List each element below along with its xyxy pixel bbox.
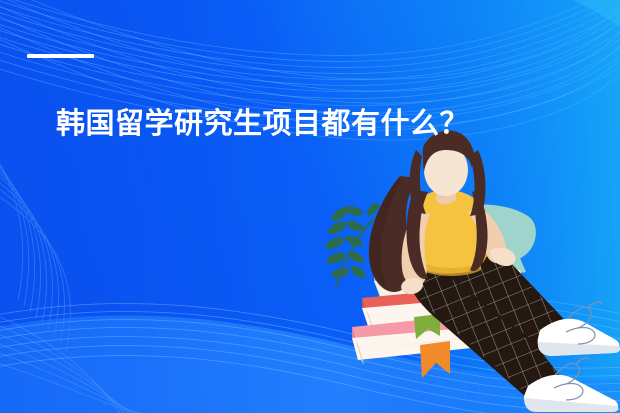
bookmark-orange <box>420 341 450 378</box>
article-hero-banner: 韩国留学研究生项目都有什么？ <box>0 0 620 413</box>
illustration-woman-on-books <box>0 0 620 413</box>
accent-rule <box>27 54 94 58</box>
page-title: 韩国留学研究生项目都有什么？ <box>56 103 469 143</box>
